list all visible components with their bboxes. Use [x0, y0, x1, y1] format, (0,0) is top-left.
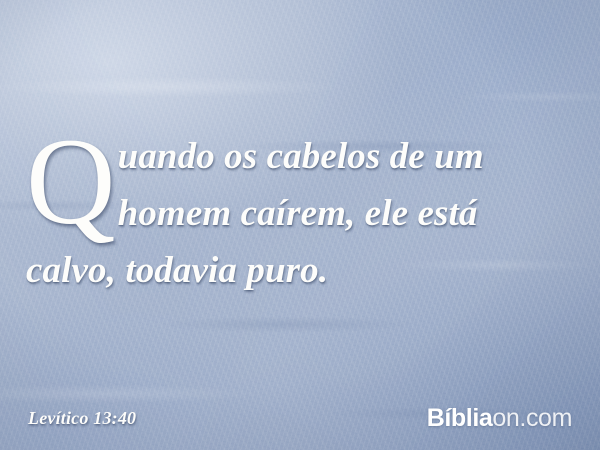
- quote-block: Quando os cabelos de um homem caírem, el…: [26, 128, 574, 299]
- drop-cap-letter: Q: [26, 134, 116, 231]
- brand-name-secondary: on.com: [492, 404, 572, 433]
- verse-reference: Levítico 13:40: [28, 408, 136, 429]
- card-footer: Levítico 13:40 Bíbliaon.com: [0, 403, 600, 433]
- verse-text: Quando os cabelos de um homem caírem, el…: [26, 128, 574, 299]
- brand-name-primary: Bíblia: [427, 404, 493, 433]
- brand-logo[interactable]: Bíbliaon.com: [427, 404, 572, 433]
- verse-card: Quando os cabelos de um homem caírem, el…: [0, 0, 600, 450]
